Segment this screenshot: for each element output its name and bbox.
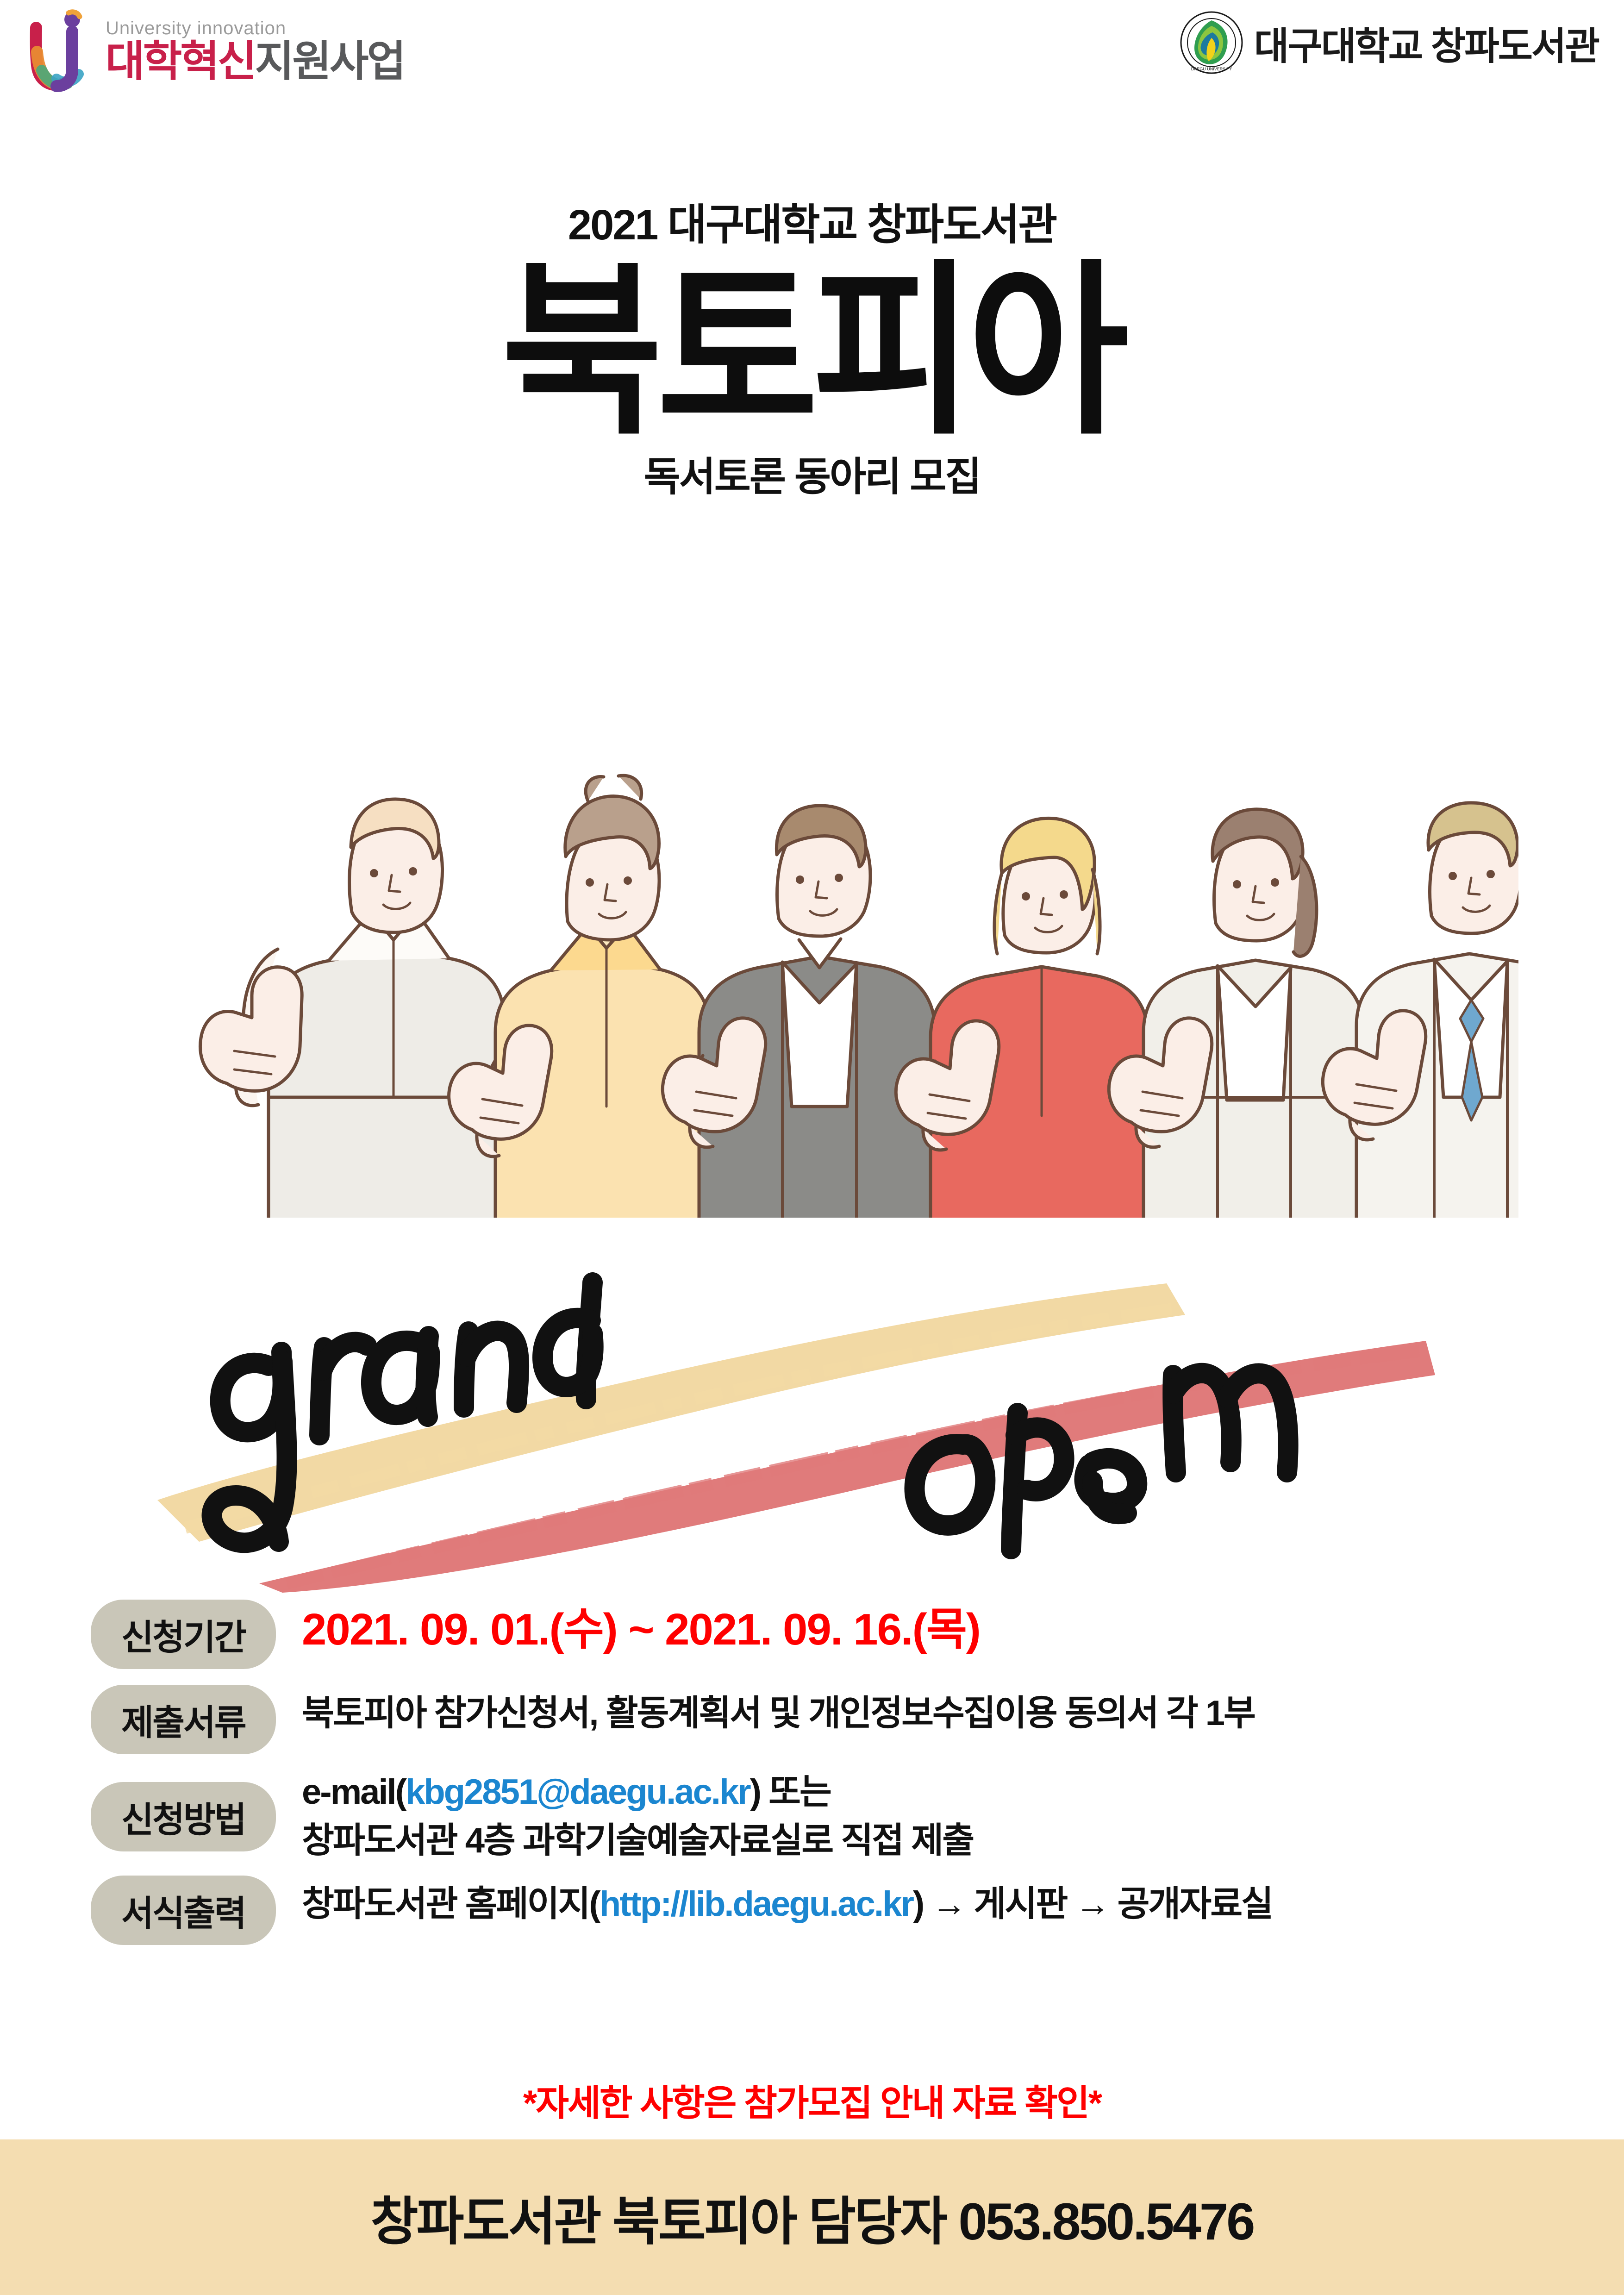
page-title: 북토피아 <box>0 255 1624 449</box>
badge-required-documents: 제출서류 <box>91 1685 276 1754</box>
grand-open-graphic <box>130 1176 1500 1593</box>
value-application-period: 2021. 09. 01.(수) ~ 2021. 09. 16.(목) <box>302 1600 980 1655</box>
title-eyebrow: 2021 대구대학교 창파도서관 <box>0 204 1624 246</box>
daegu-university-seal-icon: DAEGU UNIVERSITY <box>1179 10 1244 75</box>
poster-root: University innovation 대학혁신지원사업 DAEGU UNI… <box>0 0 1624 2295</box>
footer-contact-bar: 창파도서관 북토피아 담당자 053.850.5476 <box>0 2139 1624 2295</box>
footer-contact-text: 창파도서관 북토피아 담당자 053.850.5476 <box>371 2180 1254 2255</box>
ui-mark-icon <box>28 9 97 93</box>
form-url-pre: 창파도서관 홈페이지( <box>302 1884 600 1924</box>
info-row-form-download: 서식출력 창파도서관 홈페이지(http://lib.daegu.ac.kr) … <box>91 1876 1563 1945</box>
ui-english-label: University innovation <box>106 19 404 38</box>
form-url-post: ) → 게시판 → 공개자료실 <box>913 1884 1272 1924</box>
apply-method-line-2: 창파도서관 4층 과학기술예술자료실로 직접 제출 <box>302 1817 973 1865</box>
university-innovation-logo: University innovation 대학혁신지원사업 <box>28 9 404 93</box>
ui-korean-label: 대학혁신지원사업 <box>106 40 404 83</box>
people-thumbs-up-illustration <box>153 616 1518 1218</box>
info-row-documents: 제출서류 북토피아 참가신청서, 활동계획서 및 개인정보수집이용 동의서 각 … <box>91 1685 1563 1754</box>
apply-email-post: ) 또는 <box>750 1772 831 1812</box>
ui-korean-gray: 지원사업 <box>255 38 405 85</box>
application-period-text: 2021. 09. 01.(수) ~ 2021. 09. 16.(목) <box>302 1604 980 1655</box>
title-subtitle: 독서토론 동아리 모집 <box>0 457 1624 497</box>
library-homepage-link[interactable]: http://lib.daegu.ac.kr <box>600 1884 913 1924</box>
title-block: 2021 대구대학교 창파도서관 북토피아 독서토론 동아리 모집 <box>0 204 1624 497</box>
svg-text:DAEGU UNIVERSITY: DAEGU UNIVERSITY <box>1191 67 1232 71</box>
apply-method-line-1: e-mail(kbg2851@daegu.ac.kr) 또는 <box>302 1768 973 1817</box>
value-required-documents: 북토피아 참가신청서, 활동계획서 및 개인정보수집이용 동의서 각 1부 <box>302 1685 1255 1738</box>
detail-note: *자세한 사항은 참가모집 안내 자료 확인* <box>0 2074 1624 2126</box>
badge-application-period: 신청기간 <box>91 1600 276 1669</box>
value-form-download: 창파도서관 홈페이지(http://lib.daegu.ac.kr) → 게시판… <box>302 1876 1272 1929</box>
required-documents-text: 북토피아 참가신청서, 활동계획서 및 개인정보수집이용 동의서 각 1부 <box>302 1689 1255 1738</box>
badge-form-download: 서식출력 <box>91 1876 276 1945</box>
daegu-library-logo: DAEGU UNIVERSITY 대구대학교 창파도서관 <box>1179 10 1599 75</box>
apply-email-pre: e-mail( <box>302 1772 406 1812</box>
badge-apply-method: 신청방법 <box>91 1782 276 1851</box>
form-download-line: 창파도서관 홈페이지(http://lib.daegu.ac.kr) → 게시판… <box>302 1880 1272 1929</box>
value-apply-method: e-mail(kbg2851@daegu.ac.kr) 또는 창파도서관 4층 … <box>302 1768 973 1865</box>
apply-email-link[interactable]: kbg2851@daegu.ac.kr <box>406 1772 750 1812</box>
library-logo-label: 대구대학교 창파도서관 <box>1254 15 1599 70</box>
info-row-period: 신청기간 2021. 09. 01.(수) ~ 2021. 09. 16.(목) <box>91 1600 1563 1669</box>
info-row-apply-method: 신청방법 e-mail(kbg2851@daegu.ac.kr) 또는 창파도서… <box>91 1768 1563 1865</box>
ui-korean-red: 대학혁신 <box>106 38 255 85</box>
info-table: 신청기간 2021. 09. 01.(수) ~ 2021. 09. 16.(목)… <box>91 1600 1563 1955</box>
